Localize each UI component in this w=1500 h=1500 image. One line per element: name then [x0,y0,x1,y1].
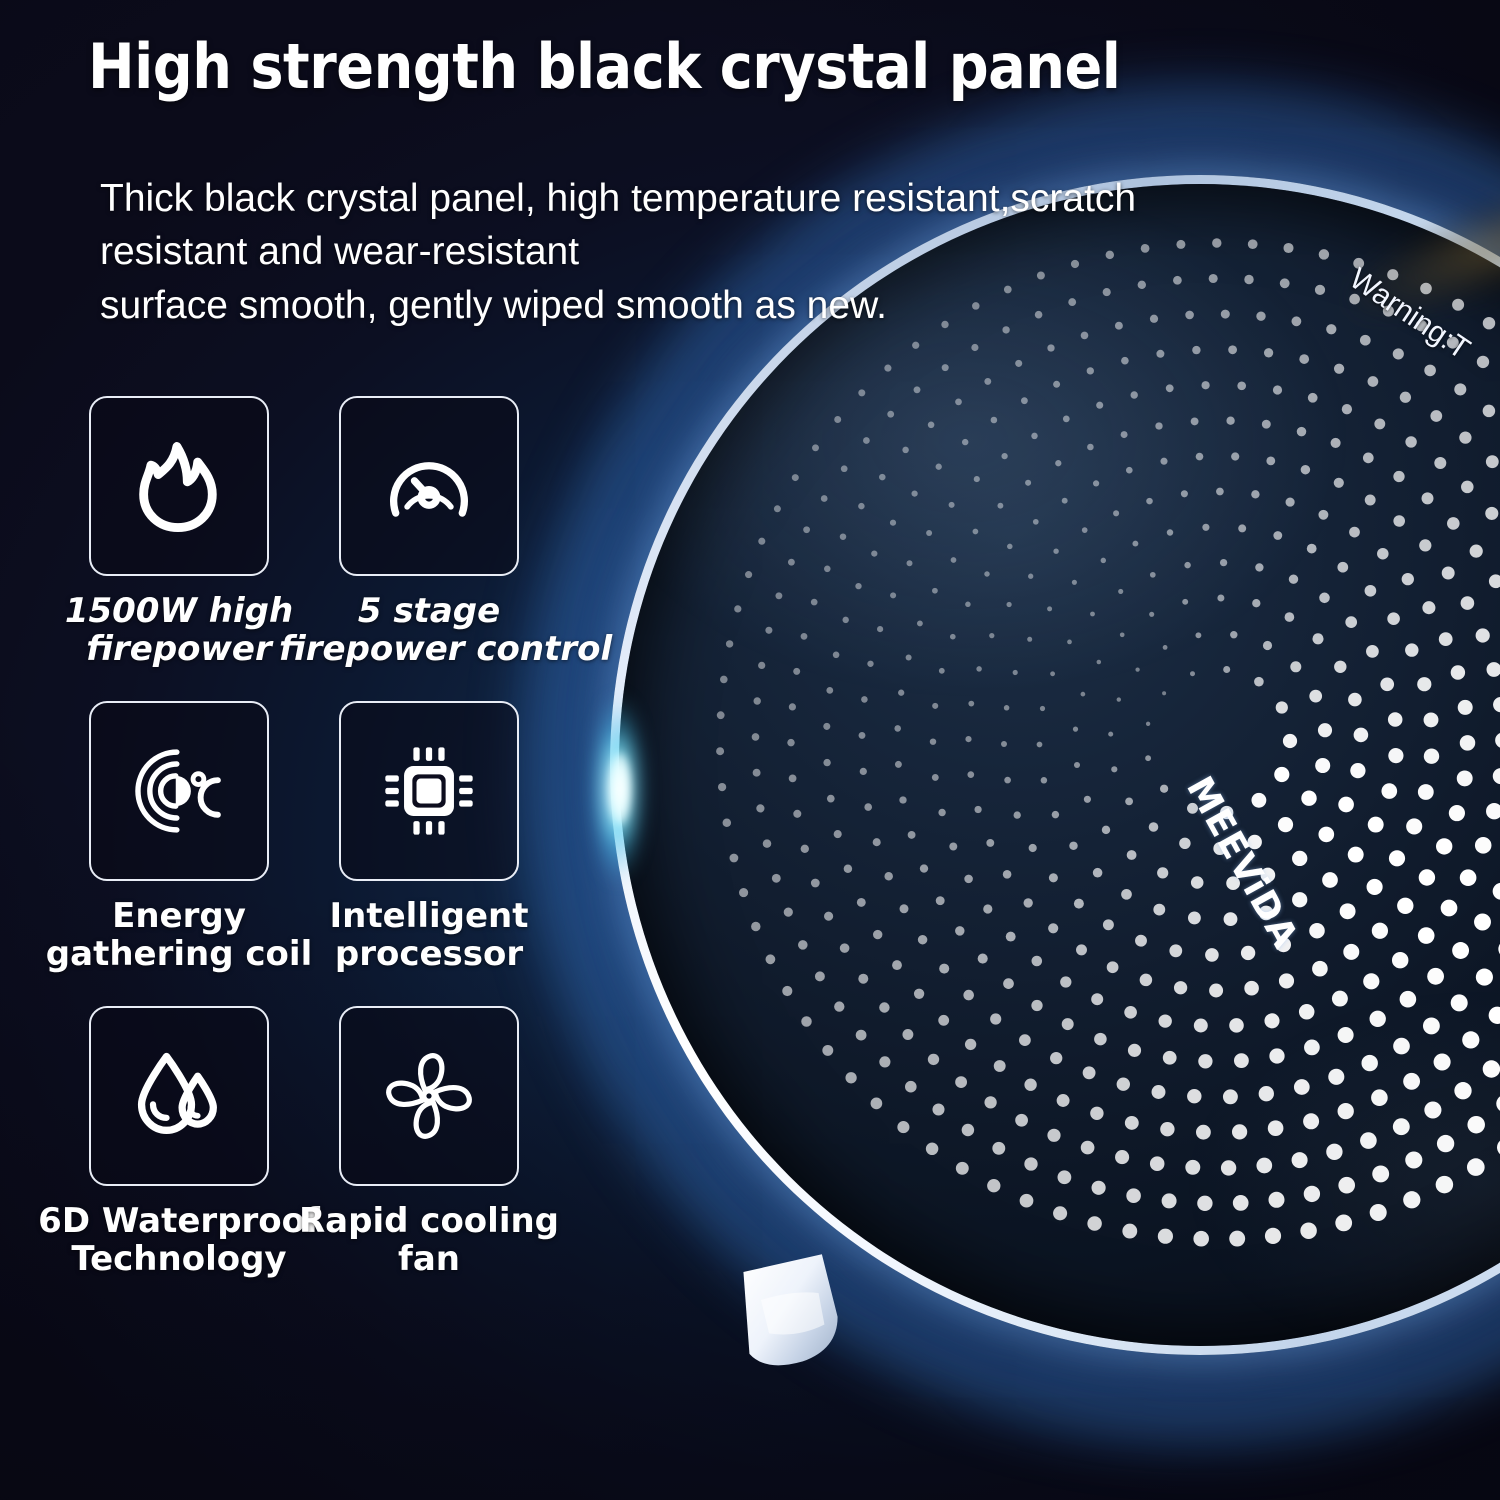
description-line-3: surface smooth, gently wiped smooth as n… [100,279,1190,332]
feature-item-intelligent-processor: Intelligent processor [338,701,520,974]
feature-icon-box [339,701,519,881]
feature-item-energy-gathering-coil: Energy gathering coil [88,701,270,974]
feature-label-line-2: processor [330,935,529,973]
feature-label: 5 stage firepower control [279,592,579,669]
feature-icon-box [89,396,269,576]
panel-plastic-clip [726,1251,847,1379]
feature-item-1500w-firepower: 1500W high firepower [88,396,270,669]
feature-label-line-2: firepower [65,630,293,668]
feature-label: 1500W high firepower [65,592,293,669]
feature-label-line-1: Intelligent [330,897,529,935]
feature-icon-box [339,1006,519,1186]
description-line-1: Thick black crystal panel, high temperat… [100,172,1190,225]
feature-label: Energy gathering coil [46,897,312,974]
gauge-icon [377,434,481,538]
feature-label-line-2: fan [299,1240,559,1278]
feature-label-line-2: firepower control [279,630,579,668]
description-text: Thick black crystal panel, high temperat… [100,172,1190,332]
description-line-2: resistant and wear-resistant [100,225,1190,278]
feature-item-6d-waterproof: 6D Waterproof Technology [88,1006,270,1279]
feature-icon-box [89,701,269,881]
feature-icon-box [339,396,519,576]
feature-label: 6D Waterproof Technology [29,1202,329,1279]
feature-item-5-stage-control: 5 stage firepower control [338,396,520,669]
feature-grid: 1500W high firepower [88,396,558,1310]
temperature-coil-icon [125,737,233,845]
feature-label-line-1: Energy [46,897,312,935]
water-drops-icon [127,1044,231,1148]
fan-blade-icon [377,1044,481,1148]
flame-icon [127,434,231,538]
page-title: High strength black crystal panel [88,34,1120,99]
feature-label-line-1: 6D Waterproof [29,1202,329,1240]
feature-label-line-1: 1500W high [65,592,293,630]
feature-label-line-1: Rapid cooling [299,1202,559,1240]
cpu-chip-icon [377,739,481,843]
feature-row: 6D Waterproof Technology [88,1006,558,1279]
feature-label: Rapid cooling fan [299,1202,559,1279]
feature-label-line-2: Technology [29,1240,329,1278]
feature-row: 1500W high firepower [88,396,558,669]
feature-label-line-1: 5 stage [279,592,579,630]
feature-icon-box [89,1006,269,1186]
feature-label: Intelligent processor [330,897,529,974]
feature-item-rapid-cooling-fan: Rapid cooling fan [338,1006,520,1279]
feature-label-line-2: gathering coil [46,935,312,973]
feature-row: Energy gathering coil [88,701,558,974]
product-feature-graphic: MEEViDA Warning:T High strength black cr… [0,0,1500,1500]
